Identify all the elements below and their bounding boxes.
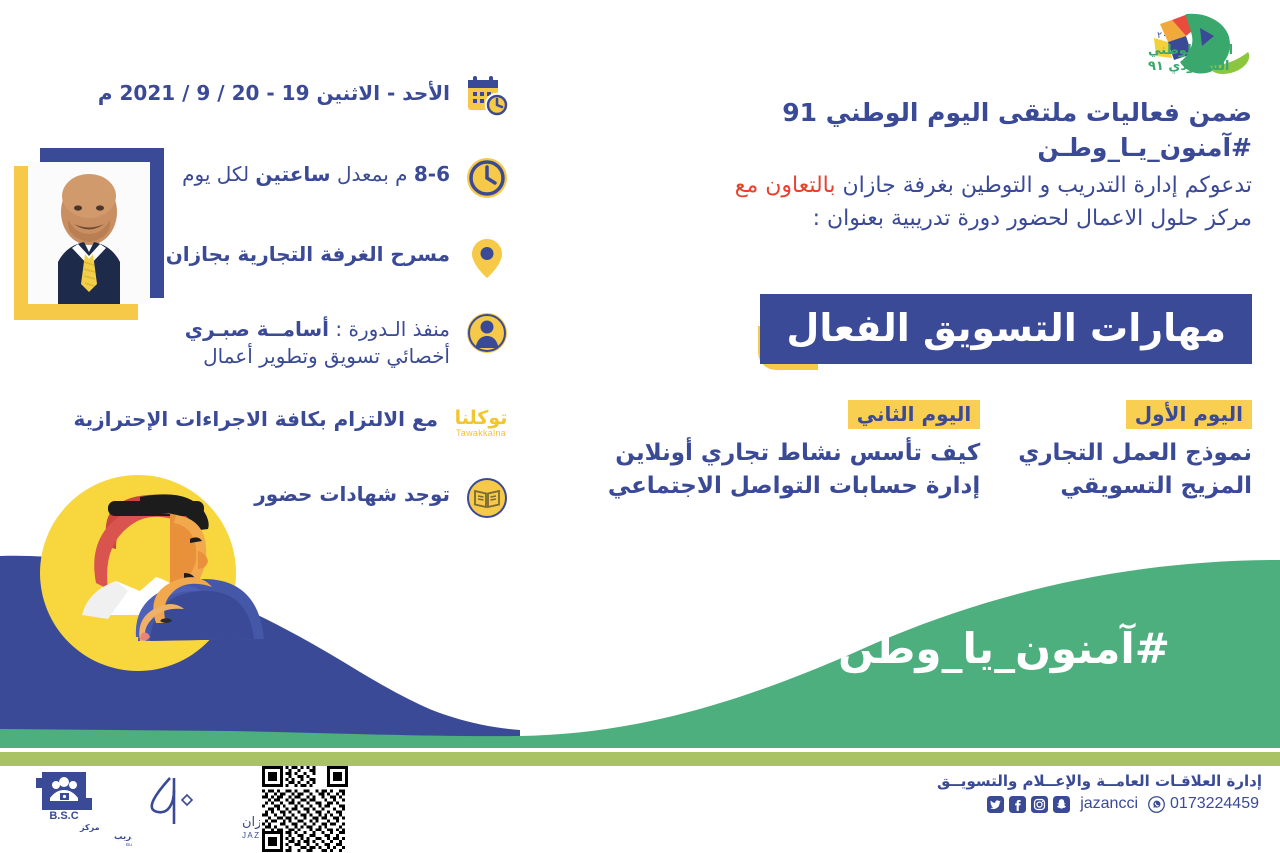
program-days: اليوم الأول نموذج العمل التجاري المزيج ا… <box>608 400 1252 502</box>
day-column-1: اليوم الأول نموذج العمل التجاري المزيج ا… <box>1018 400 1252 502</box>
info-time-mid: م بمعدل <box>331 162 414 186</box>
day-1-item-1: نموذج العمل التجاري <box>1018 437 1252 470</box>
info-date-text: الأحد - الاثنين 19 - 20 / 9 / 2021 م <box>98 74 450 107</box>
poster-footer: B.S.C مركز حلول الأعمال للتدريب Business… <box>0 762 1280 853</box>
clock-icon <box>464 155 510 201</box>
saudi-national-day-logo: ٢٠ اليوم الوطني السعـودي ٩١ <box>1076 6 1266 86</box>
course-title-wrapper: مهارات التسويق الفعال <box>760 294 1252 364</box>
info-row-location: مسرح الغرفة التجارية بجازان <box>166 235 510 281</box>
info-presenter-line-1: منفذ الـدورة : أسامــة صبـري <box>185 316 450 343</box>
tawakkalna-logo: توكلنا Tawakkalna <box>452 400 510 446</box>
info-row-presenter: منفذ الـدورة : أسامــة صبـري أخصائي تسوي… <box>185 310 510 370</box>
footer-department: إدارة العلاقـات العامــة والإعــلام والت… <box>937 772 1262 790</box>
intro-line-3: تدعوكم إدارة التدريب و التوطين بغرفة جاز… <box>632 169 1252 202</box>
footer-handle: jazancci <box>1080 795 1138 813</box>
info-time-duration: ساعتين <box>255 162 330 186</box>
location-pin-icon <box>464 235 510 281</box>
qr-code[interactable] <box>262 766 348 852</box>
nd-logo-line2: السعـودي ٩١ <box>1148 59 1229 74</box>
info-date-value: الأحد - الاثنين 19 - 20 / 9 / 2021 م <box>98 81 450 105</box>
calendar-clock-icon <box>464 74 510 120</box>
footer-social-row: 0173224459 jazancci <box>937 795 1262 813</box>
presenter-photo-frame <box>14 148 164 320</box>
whatsapp-icon[interactable] <box>1148 796 1165 813</box>
footer-contact-block: إدارة العلاقـات العامــة والإعــلام والت… <box>937 772 1262 813</box>
info-certificates-value: توجد شهادات حضور <box>254 482 450 506</box>
info-time-hours: 8-6 <box>414 162 450 186</box>
day-column-2: اليوم الثاني كيف تأسس نشاط تجاري أونلاين… <box>608 400 980 502</box>
intro-hashtag-line: #آمنون_يـا_وطـن <box>632 131 1252 166</box>
intro-line-1: ضمن فعاليات ملتقى اليوم الوطني 91 <box>632 96 1252 131</box>
instagram-icon[interactable] <box>1031 796 1048 813</box>
info-time-tail: لكل يوم <box>182 162 255 186</box>
info-time-text: 8-6 م بمعدل ساعتين لكل يوم <box>182 155 450 188</box>
info-row-certificates: توجد شهادات حضور <box>254 475 510 521</box>
nd-badge-number: ٢٠ <box>1157 31 1167 41</box>
event-poster: ٢٠ اليوم الوطني السعـودي ٩١ ضمن فعاليات … <box>0 0 1280 853</box>
bsc-mark: B.S.C <box>49 810 78 822</box>
open-book-icon <box>464 475 510 521</box>
course-title: مهارات التسويق الفعال <box>760 294 1252 364</box>
day-1-badge: اليوم الأول <box>1126 400 1252 429</box>
info-precautions-text: مع الالتزام بكافة الاجراءات الإحترازية <box>73 400 438 433</box>
day-2-item-1: كيف تأسس نشاط تجاري أونلاين <box>608 437 980 470</box>
info-row-precautions: توكلنا Tawakkalna مع الالتزام بكافة الاج… <box>73 400 510 446</box>
info-presenter-text: منفذ الـدورة : أسامــة صبـري أخصائي تسوي… <box>185 310 450 370</box>
info-row-time: 8-6 م بمعدل ساعتين لكل يوم <box>182 155 510 201</box>
info-certificates-text: توجد شهادات حضور <box>254 475 450 508</box>
info-row-date: الأحد - الاثنين 19 - 20 / 9 / 2021 م <box>98 74 510 120</box>
bsc-line-ar-1: مركز <box>79 823 100 832</box>
day-1-item-2: المزيج التسويقي <box>1018 470 1252 503</box>
info-presenter-name: أسامــة صبـري <box>185 317 329 341</box>
bsc-logo: B.S.C مركز حلول الأعمال للتدريب Business… <box>22 768 132 848</box>
nd-logo-line1: اليوم الوطني <box>1148 43 1233 58</box>
info-location-text: مسرح الغرفة التجارية بجازان <box>166 235 450 268</box>
day-2-item-2: إدارة حسابات التواصل الاجتماعي <box>608 470 980 503</box>
tawakkalna-english: Tawakkalna <box>456 429 506 438</box>
info-presenter-role: أخصائي تسويق وتطوير أعمال <box>185 343 450 370</box>
intro-line-3-highlight: بالتعاون مع <box>735 173 836 198</box>
presenter-photo <box>28 162 150 304</box>
info-presenter-label: منفذ الـدورة : <box>329 317 450 341</box>
tawakkalna-arabic: توكلنا <box>455 409 508 428</box>
jazan-name-en: JAZAN CHAMBER <box>242 831 260 840</box>
intro-block: ضمن فعاليات ملتقى اليوم الوطني 91 #آمنون… <box>632 96 1252 235</box>
jazan-chamber-logo: غرفة جازان JAZAN CHAMBER <box>130 772 260 846</box>
footer-phone: 0173224459 <box>1170 795 1259 813</box>
jazan-name-ar: غرفة جازان <box>242 815 260 830</box>
intro-line-4: مركز حلول الاعمال لحضور دورة تدريبية بعن… <box>632 202 1252 235</box>
info-location-value: مسرح الغرفة التجارية بجازان <box>166 242 450 266</box>
intro-line-3-plain: تدعوكم إدارة التدريب و التوطين بغرفة جاز… <box>836 173 1252 198</box>
twitter-icon[interactable] <box>987 796 1004 813</box>
snapchat-icon[interactable] <box>1053 796 1070 813</box>
person-icon <box>464 310 510 356</box>
info-precautions-value: مع الالتزام بكافة الاجراءات الإحترازية <box>73 407 438 431</box>
facebook-icon[interactable] <box>1009 796 1026 813</box>
day-2-badge: اليوم الثاني <box>848 400 980 429</box>
hashtag-banner: #آمنون_يا_وطن <box>838 624 1170 673</box>
